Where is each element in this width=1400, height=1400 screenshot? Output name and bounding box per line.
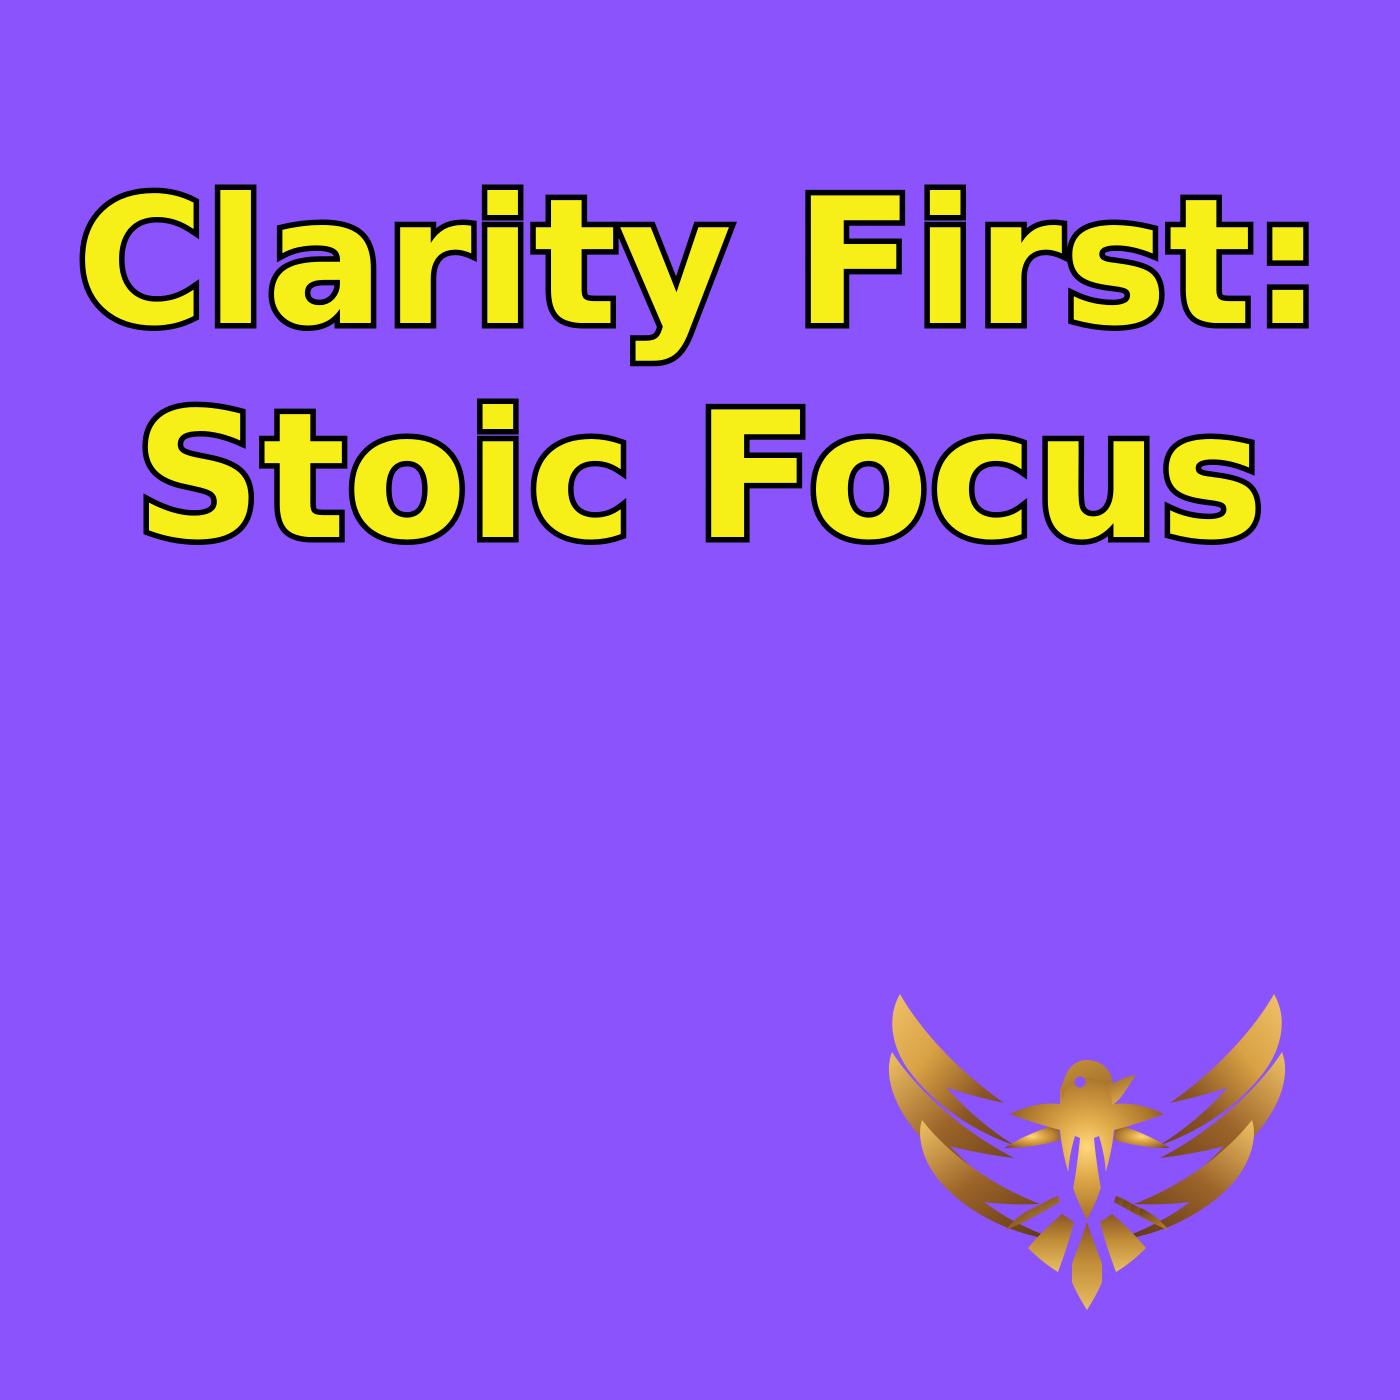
cover-art-canvas: Clarity First: Stoic Focus [0, 0, 1400, 1400]
phoenix-tail-center [1072, 1222, 1102, 1310]
phoenix-tail-left-blade [1028, 1214, 1074, 1272]
phoenix-logo-container [862, 952, 1312, 1324]
title-line-2: Stoic Focus [0, 382, 1400, 574]
phoenix-bird-logo-icon [862, 952, 1312, 1324]
phoenix-eye [1075, 1077, 1086, 1088]
phoenix-tail-right-blade [1100, 1214, 1146, 1272]
title-block: Clarity First: Stoic Focus [0, 168, 1400, 574]
title-line-1: Clarity First: [0, 168, 1400, 360]
